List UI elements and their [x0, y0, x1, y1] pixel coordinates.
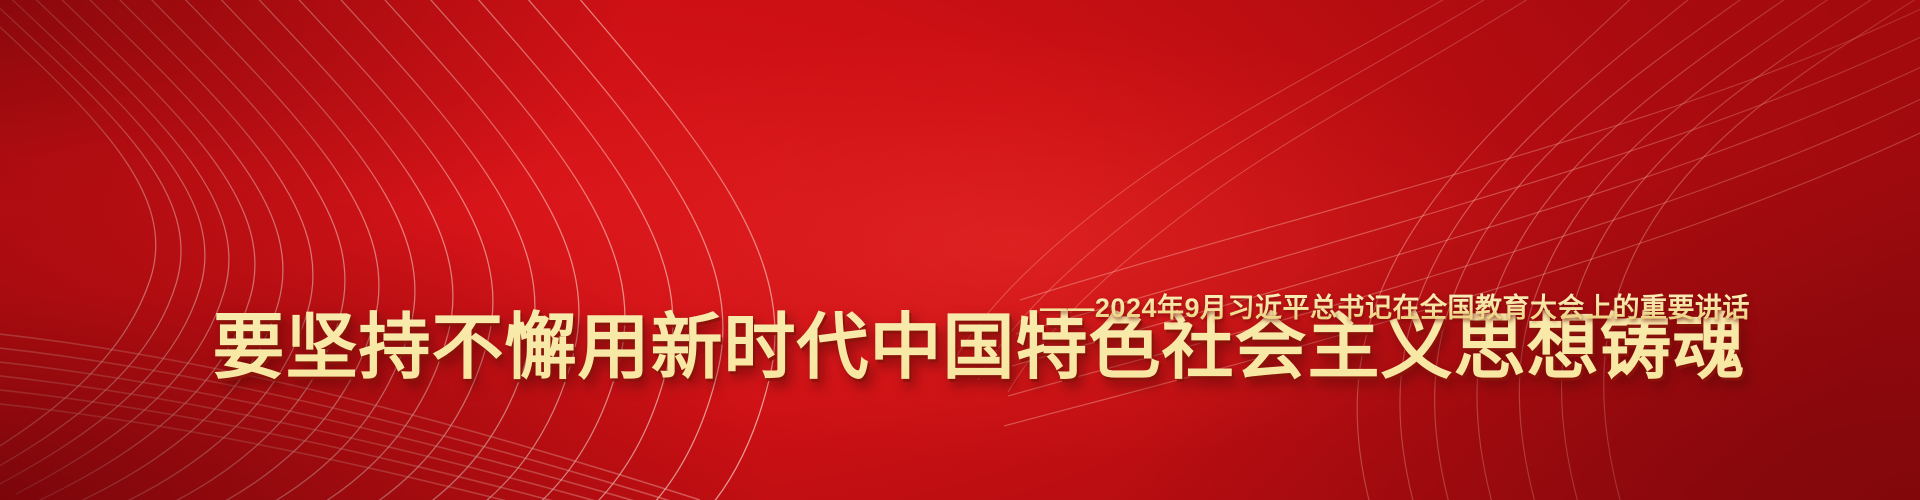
banner-content: 要坚持不懈用新时代中国特色社会主义思想铸魂 育人，实施新时代立德树人工程。 ——…	[0, 0, 1920, 500]
red-propaganda-banner: 要坚持不懈用新时代中国特色社会主义思想铸魂 育人，实施新时代立德树人工程。 ——…	[0, 0, 1920, 500]
speech-attribution: ——2024年9月习近平总书记在全国教育大会上的重要讲话	[0, 288, 1920, 328]
